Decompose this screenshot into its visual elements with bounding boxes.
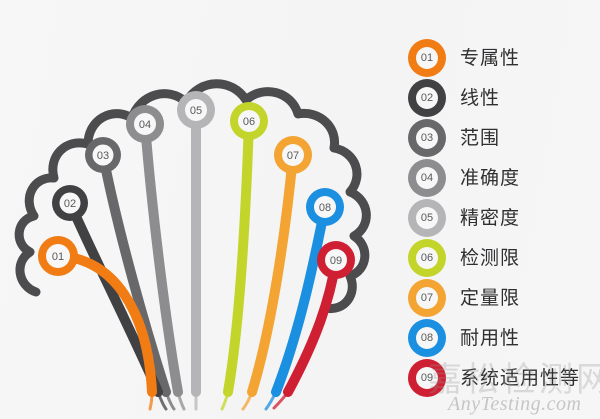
legend-badge-04-number: 04 — [416, 167, 438, 189]
legend-item-03[interactable]: 03 范围 — [408, 118, 600, 158]
legend-item-05[interactable]: 05 精密度 — [408, 198, 600, 238]
legend-label-06: 检测限 — [460, 249, 520, 268]
marker-04-number: 04 — [139, 119, 151, 131]
marker-01-number: 01 — [52, 251, 64, 263]
legend-badge-04: 04 — [408, 159, 446, 197]
legend-badge-07-number: 07 — [416, 287, 438, 309]
legend-item-04[interactable]: 04 准确度 — [408, 158, 600, 198]
legend-item-07[interactable]: 07 定量限 — [408, 278, 600, 318]
legend-badge-07: 07 — [408, 279, 446, 317]
stem-06 — [222, 121, 249, 409]
marker-07-number: 07 — [287, 150, 299, 162]
legend-label-02: 线性 — [460, 89, 500, 108]
legend-badge-01: 01 — [408, 39, 446, 77]
fan-diagram: 09 08 07 06 05 04 03 — [0, 0, 420, 419]
legend-label-01: 专属性 — [460, 49, 520, 68]
legend-badge-08-number: 08 — [416, 327, 438, 349]
legend-badge-02: 02 — [408, 79, 446, 117]
legend: 01 专属性 02 线性 03 范围 04 准确度 05 精密 — [408, 38, 600, 398]
legend-badge-06-number: 06 — [416, 247, 438, 269]
marker-02[interactable]: 02 — [52, 185, 88, 221]
legend-item-02[interactable]: 02 线性 — [408, 78, 600, 118]
marker-09[interactable]: 09 — [317, 241, 355, 279]
legend-label-09: 系统适用性等 — [460, 369, 580, 388]
legend-item-08[interactable]: 08 耐用性 — [408, 318, 600, 358]
legend-label-04: 准确度 — [460, 169, 520, 188]
legend-item-01[interactable]: 01 专属性 — [408, 38, 600, 78]
marker-04[interactable]: 04 — [126, 105, 164, 143]
legend-badge-05: 05 — [408, 199, 446, 237]
marker-06-number: 06 — [243, 116, 255, 128]
marker-05[interactable]: 05 — [177, 91, 215, 129]
marker-02-number: 02 — [64, 198, 76, 210]
legend-badge-02-number: 02 — [416, 87, 438, 109]
legend-badge-06: 06 — [408, 239, 446, 277]
marker-08-number: 08 — [319, 202, 331, 214]
legend-label-07: 定量限 — [460, 289, 520, 308]
legend-badge-01-number: 01 — [416, 47, 438, 69]
marker-01[interactable]: 01 — [38, 236, 78, 276]
legend-item-06[interactable]: 06 检测限 — [408, 238, 600, 278]
marker-06[interactable]: 06 — [230, 102, 268, 140]
legend-label-03: 范围 — [460, 129, 500, 148]
legend-item-09[interactable]: 09 系统适用性等 — [408, 358, 600, 398]
legend-label-05: 精密度 — [460, 209, 520, 228]
legend-badge-09: 09 — [408, 359, 446, 397]
legend-label-08: 耐用性 — [460, 329, 520, 348]
marker-09-number: 09 — [330, 255, 342, 267]
marker-07[interactable]: 07 — [274, 136, 312, 174]
legend-badge-09-number: 09 — [416, 367, 438, 389]
infographic-canvas: 09 08 07 06 05 04 03 — [0, 0, 600, 419]
marker-08[interactable]: 08 — [306, 188, 344, 226]
marker-03-number: 03 — [97, 150, 109, 162]
legend-badge-05-number: 05 — [416, 207, 438, 229]
marker-05-number: 05 — [190, 105, 202, 117]
marker-03[interactable]: 03 — [85, 137, 121, 173]
legend-badge-03: 03 — [408, 119, 446, 157]
legend-badge-08: 08 — [408, 319, 446, 357]
stem-01 — [58, 256, 152, 409]
legend-badge-03-number: 03 — [416, 127, 438, 149]
